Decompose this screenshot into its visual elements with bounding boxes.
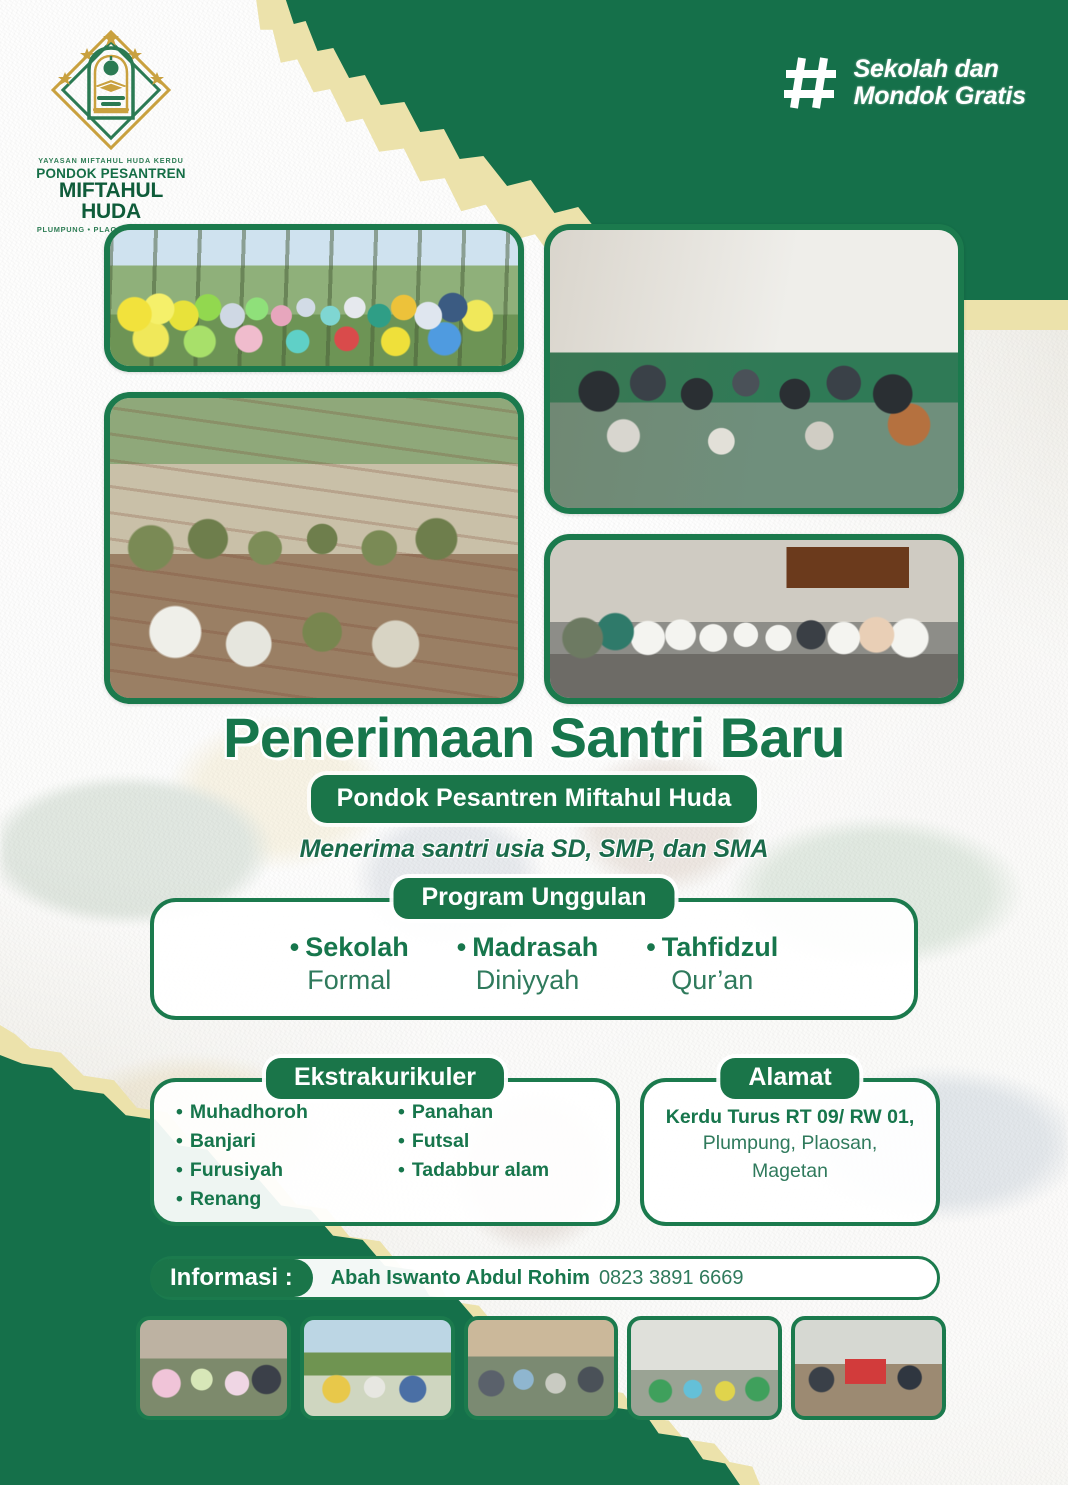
headline-subtitle: Menerima santri usia SD, SMP, dan SMA xyxy=(0,835,1068,864)
program-item-sekolah: •Sekolah Formal xyxy=(290,932,409,996)
program-item-sekolah-bold: •Sekolah xyxy=(290,932,409,963)
hashtag-line1: Sekolah dan xyxy=(854,56,1026,83)
hashtag-text: Sekolah dan Mondok Gratis xyxy=(854,56,1026,110)
informasi-bar: Informasi : Abah Iswanto Abdul Rohim 082… xyxy=(150,1256,940,1300)
alamat-line2: Plumpung, Plaosan, xyxy=(656,1131,924,1157)
thumb-indoor-majlis xyxy=(136,1316,291,1420)
list-item: •Panahan xyxy=(398,1098,610,1127)
photo-outing-group-image xyxy=(110,230,518,366)
alamat-line3: Magetan xyxy=(656,1159,924,1185)
photo-santri-group-sign-image xyxy=(550,540,958,698)
poster-root: YAYASAN MIFTAHUL HUDA KERDU PONDOK PESAN… xyxy=(0,0,1068,1485)
alamat-line1: Kerdu Turus RT 09/ RW 01, xyxy=(656,1106,924,1129)
program-item-madrasah-bold: •Madrasah xyxy=(457,932,599,963)
bullet-icon: • xyxy=(398,1130,405,1152)
program-item-tahfidz-normal: Qur’an xyxy=(646,965,778,996)
alamat-body: Kerdu Turus RT 09/ RW 01, Plumpung, Plao… xyxy=(644,1082,936,1222)
page-title: Penerimaan Santri Baru xyxy=(0,708,1068,767)
thumb-outdoor-hillside xyxy=(300,1316,455,1420)
photo-outdoor-quran-class-image xyxy=(110,398,518,698)
bullet-icon: • xyxy=(176,1188,183,1210)
bullet-icon: • xyxy=(398,1101,405,1123)
islamic-emblem-icon xyxy=(41,26,181,154)
program-item-madrasah-normal: Diniyyah xyxy=(457,965,599,996)
informasi-contact-name: Abah Iswanto Abdul Rohim xyxy=(331,1267,590,1290)
program-item-madrasah: •Madrasah Diniyyah xyxy=(457,932,599,996)
hashtag-badge: Sekolah dan Mondok Gratis xyxy=(780,52,1026,114)
ekstrakurikuler-column-left: •Muhadhoroh •Banjari •Furusiyah •Renang xyxy=(176,1098,388,1222)
list-item: •Muhadhoroh xyxy=(176,1098,388,1127)
ekstrakurikuler-column-right: •Panahan •Futsal •Tadabbur alam xyxy=(398,1098,610,1222)
logo-foundation-name: YAYASAN MIFTAHUL HUDA KERDU xyxy=(36,156,186,165)
headline-block: Penerimaan Santri Baru Pondok Pesantren … xyxy=(0,708,1068,864)
program-list: •Sekolah Formal •Madrasah Diniyyah •Tahf… xyxy=(154,902,914,1016)
photo-outdoor-quran-class xyxy=(104,392,524,704)
list-item: •Renang xyxy=(176,1185,388,1214)
informasi-label: Informasi : xyxy=(150,1259,313,1297)
photo-collage xyxy=(104,224,964,704)
photo-mosque-gathering-image xyxy=(550,230,958,508)
program-unggulan-card: Program Unggulan •Sekolah Formal •Madras… xyxy=(150,898,918,1020)
program-item-sekolah-normal: Formal xyxy=(290,965,409,996)
ekstrakurikuler-card: Ekstrakurikuler •Muhadhoroh •Banjari •Fu… xyxy=(150,1078,620,1226)
hashtag-line2: Mondok Gratis xyxy=(854,83,1026,110)
institution-logo: YAYASAN MIFTAHUL HUDA KERDU PONDOK PESAN… xyxy=(36,26,186,234)
list-item: •Tadabbur alam xyxy=(398,1156,610,1185)
thumb-hall-assembly xyxy=(464,1316,619,1420)
thumb-school-group xyxy=(627,1316,782,1420)
bullet-icon: • xyxy=(646,932,655,962)
ekstrakurikuler-lists: •Muhadhoroh •Banjari •Furusiyah •Renang … xyxy=(154,1082,616,1222)
hash-icon xyxy=(780,52,842,114)
bullet-icon: • xyxy=(398,1159,405,1181)
program-item-tahfidz: •Tahfidzul Qur’an xyxy=(646,932,778,996)
informasi-phone-number[interactable]: 0823 3891 6669 xyxy=(599,1267,744,1290)
photo-mosque-gathering xyxy=(544,224,964,514)
list-item: •Futsal xyxy=(398,1127,610,1156)
bullet-icon: • xyxy=(176,1101,183,1123)
alamat-card: Alamat Kerdu Turus RT 09/ RW 01, Plumpun… xyxy=(640,1078,940,1226)
photo-strip xyxy=(136,1316,946,1420)
program-item-tahfidz-bold: •Tahfidzul xyxy=(646,932,778,963)
thumb-banner-ceremony xyxy=(791,1316,946,1420)
institution-pill: Pondok Pesantren Miftahul Huda xyxy=(311,775,758,823)
bullet-icon: • xyxy=(176,1130,183,1152)
bullet-icon: • xyxy=(290,932,299,962)
photo-santri-group-sign xyxy=(544,534,964,704)
list-item: •Banjari xyxy=(176,1127,388,1156)
bullet-icon: • xyxy=(457,932,466,962)
list-item: •Furusiyah xyxy=(176,1156,388,1185)
bullet-icon: • xyxy=(176,1159,183,1181)
photo-outing-group xyxy=(104,224,524,372)
logo-institution-name: MIFTAHUL HUDA xyxy=(36,180,186,223)
